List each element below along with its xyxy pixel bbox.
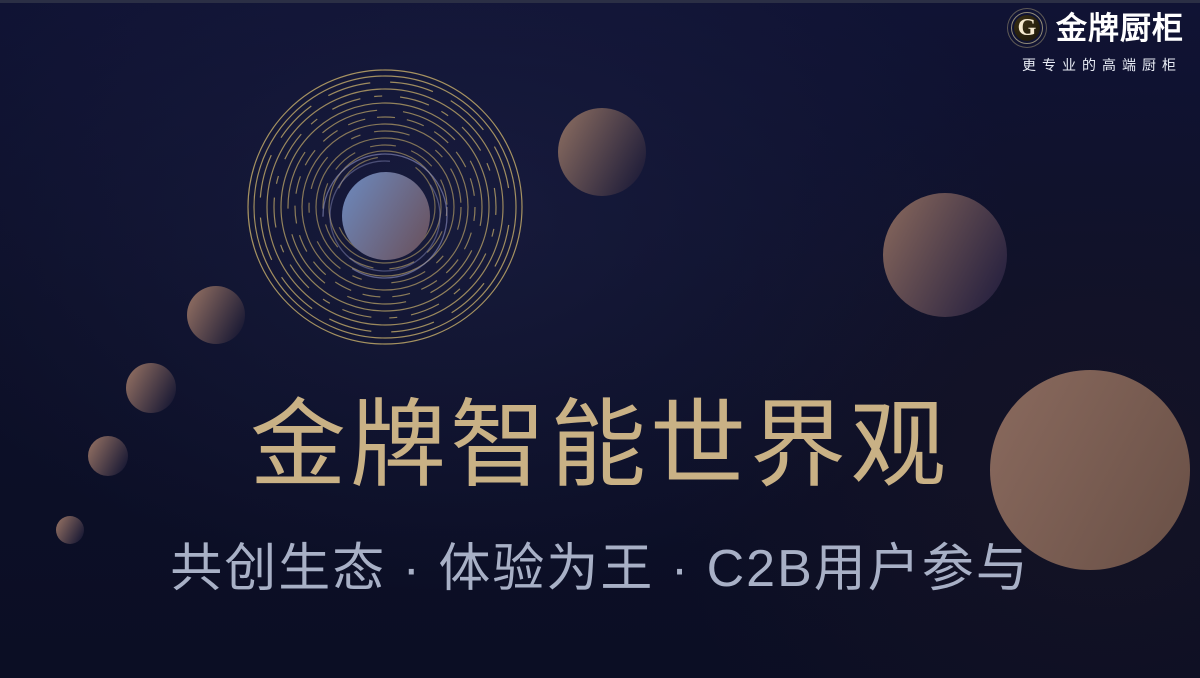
medallion-g-letter: G	[1007, 8, 1047, 48]
brand-logo-layer: G 金牌厨柜 更专业的高端厨柜	[0, 0, 1200, 678]
logo-lockup: G 金牌厨柜	[1007, 8, 1184, 48]
brand-logo[interactable]: G 金牌厨柜 更专业的高端厨柜	[1007, 8, 1184, 75]
logo-tagline: 更专业的高端厨柜	[1007, 55, 1184, 75]
gold-medallion-icon: G	[1007, 8, 1047, 48]
logo-wordmark: 金牌厨柜	[1056, 13, 1184, 44]
slide-canvas: 金牌智能世界观 共创生态 · 体验为王 · C2B用户参与 G 金牌厨柜 更专业…	[0, 0, 1200, 678]
top-edge-strip	[0, 0, 1200, 3]
